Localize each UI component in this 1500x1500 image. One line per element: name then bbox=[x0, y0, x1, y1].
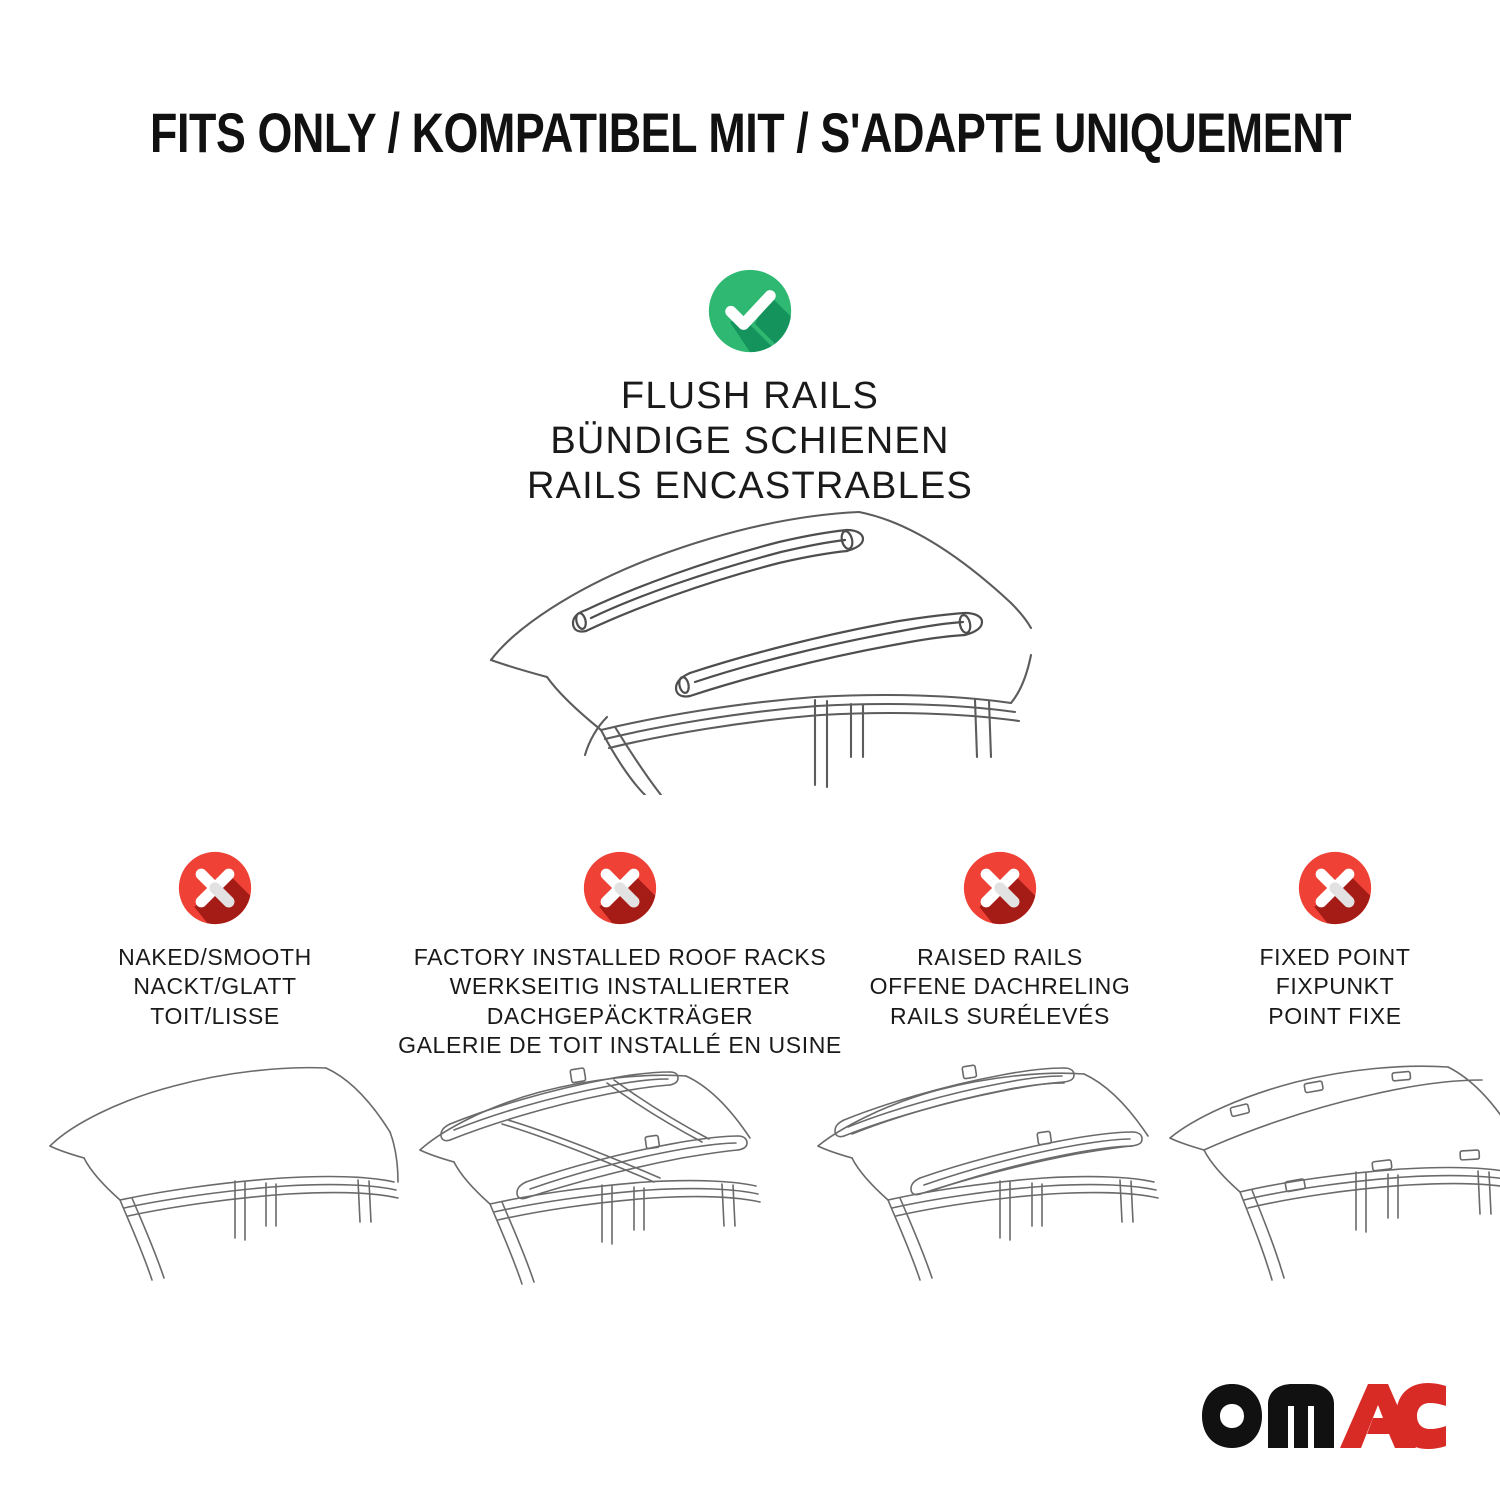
incompatible-item-factory-roof-racks: FACTORY INSTALLED ROOF RACKS WERKSEITIG … bbox=[395, 845, 845, 1061]
page-title: FITS ONLY / KOMPATIBEL MIT / S'ADAPTE UN… bbox=[150, 104, 1350, 163]
label-fr: GALERIE DE TOIT INSTALLÉ EN USINE bbox=[395, 1031, 845, 1060]
compatible-section: FLUSH RAILS BÜNDIGE SCHIENEN RAILS ENCAS… bbox=[0, 262, 1500, 508]
x-circle-icon bbox=[957, 845, 1043, 931]
compatible-label-en: FLUSH RAILS bbox=[0, 374, 1500, 419]
check-circle-icon bbox=[701, 262, 799, 360]
incompatible-labels: NAKED/SMOOTH NACKT/GLATT TOIT/LISSE bbox=[55, 943, 375, 1031]
label-de-1: WERKSEITIG INSTALLIERTER bbox=[395, 972, 845, 1001]
incompatible-section: NAKED/SMOOTH NACKT/GLATT TOIT/LISSE bbox=[0, 845, 1500, 1055]
x-circle-icon bbox=[1292, 845, 1378, 931]
compatible-label-de: BÜNDIGE SCHIENEN bbox=[0, 419, 1500, 464]
incompatible-item-raised-rails: RAISED RAILS OFFENE DACHRELING RAILS SUR… bbox=[835, 845, 1165, 1031]
label-de: NACKT/GLATT bbox=[55, 972, 375, 1001]
car-roof-raised-rails-illustration bbox=[800, 1058, 1160, 1308]
label-fr: TOIT/LISSE bbox=[55, 1002, 375, 1031]
fitment-infographic: FITS ONLY / KOMPATIBEL MIT / S'ADAPTE UN… bbox=[0, 0, 1500, 1500]
label-en: FACTORY INSTALLED ROOF RACKS bbox=[395, 943, 845, 972]
roof-illustration-row bbox=[0, 1058, 1500, 1308]
compatible-labels: FLUSH RAILS BÜNDIGE SCHIENEN RAILS ENCAS… bbox=[0, 374, 1500, 508]
car-roof-naked-illustration bbox=[42, 1058, 402, 1308]
incompatible-labels: RAISED RAILS OFFENE DACHRELING RAILS SUR… bbox=[835, 943, 1165, 1031]
label-fr: RAILS SURÉLEVÉS bbox=[835, 1002, 1165, 1031]
incompatible-item-naked-smooth: NAKED/SMOOTH NACKT/GLATT TOIT/LISSE bbox=[55, 845, 375, 1031]
incompatible-item-fixed-point: FIXED POINT FIXPUNKT POINT FIXE bbox=[1185, 845, 1485, 1031]
incompatible-labels: FIXED POINT FIXPUNKT POINT FIXE bbox=[1185, 943, 1485, 1031]
label-de: OFFENE DACHRELING bbox=[835, 972, 1165, 1001]
car-roof-flush-rails-illustration bbox=[455, 495, 1055, 795]
label-en: FIXED POINT bbox=[1185, 943, 1485, 972]
car-roof-factory-racks-illustration bbox=[402, 1058, 762, 1308]
label-en: RAISED RAILS bbox=[835, 943, 1165, 972]
x-circle-icon bbox=[577, 845, 663, 931]
label-de: FIXPUNKT bbox=[1185, 972, 1485, 1001]
label-en: NAKED/SMOOTH bbox=[55, 943, 375, 972]
car-roof-fixed-point-illustration bbox=[1160, 1058, 1500, 1308]
incompatible-labels: FACTORY INSTALLED ROOF RACKS WERKSEITIG … bbox=[395, 943, 845, 1061]
x-circle-icon bbox=[172, 845, 258, 931]
label-de-2: DACHGEPÄCKTRÄGER bbox=[395, 1002, 845, 1031]
label-fr: POINT FIXE bbox=[1185, 1002, 1485, 1031]
omac-logo bbox=[1200, 1380, 1448, 1454]
